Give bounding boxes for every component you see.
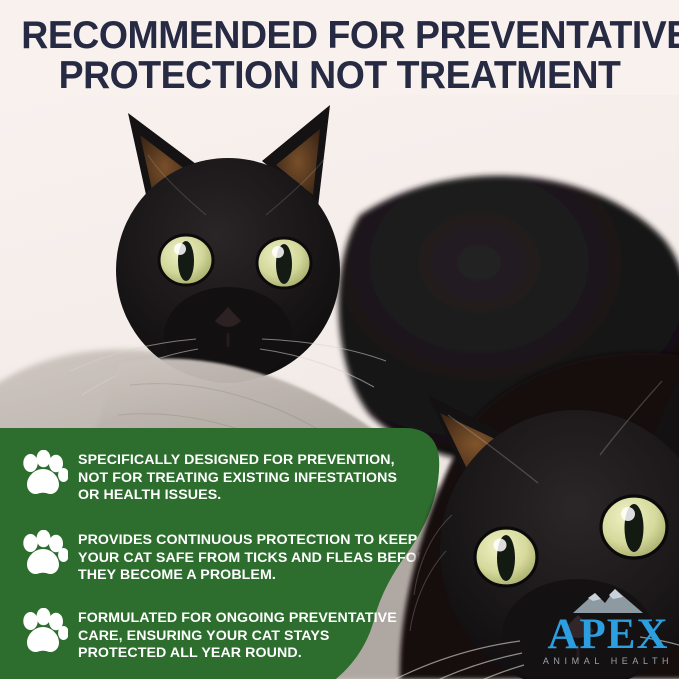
logo-tagline: ANIMAL HEALTH [533,655,679,667]
benefit-text: PROVIDES CONTINUOUS PROTECTION TO KEEP Y… [78,530,437,585]
paw-print-icon [18,531,68,579]
headline-line-1: RECOMMENDED FOR PREVENTATIVE [21,16,657,56]
benefit-item: PROVIDES CONTINUOUS PROTECTION TO KEEP Y… [18,530,448,585]
logo-wordmark: APEX [533,615,679,655]
paw-print-icon [18,609,68,657]
paw-print-icon [18,451,68,499]
benefit-item: FORMULATED FOR ONGOING PREVENTATIVE CARE… [18,608,448,663]
page-title: RECOMMENDED FOR PREVENTATIVE PROTECTION … [0,16,679,96]
headline-line-2: PROTECTION NOT TREATMENT [21,56,657,96]
benefits-panel: SPECIFICALLY DESIGNED FOR PREVENTION, NO… [0,428,470,679]
product-infographic-card: SPECIFICALLY DESIGNED FOR PREVENTION, NO… [0,0,679,679]
brand-logo: APEX ANIMAL HEALTH [533,585,679,673]
benefit-text: SPECIFICALLY DESIGNED FOR PREVENTION, NO… [78,450,397,505]
benefit-item: SPECIFICALLY DESIGNED FOR PREVENTION, NO… [18,450,448,505]
benefits-list: SPECIFICALLY DESIGNED FOR PREVENTION, NO… [0,428,460,679]
benefit-text: FORMULATED FOR ONGOING PREVENTATIVE CARE… [78,608,397,663]
